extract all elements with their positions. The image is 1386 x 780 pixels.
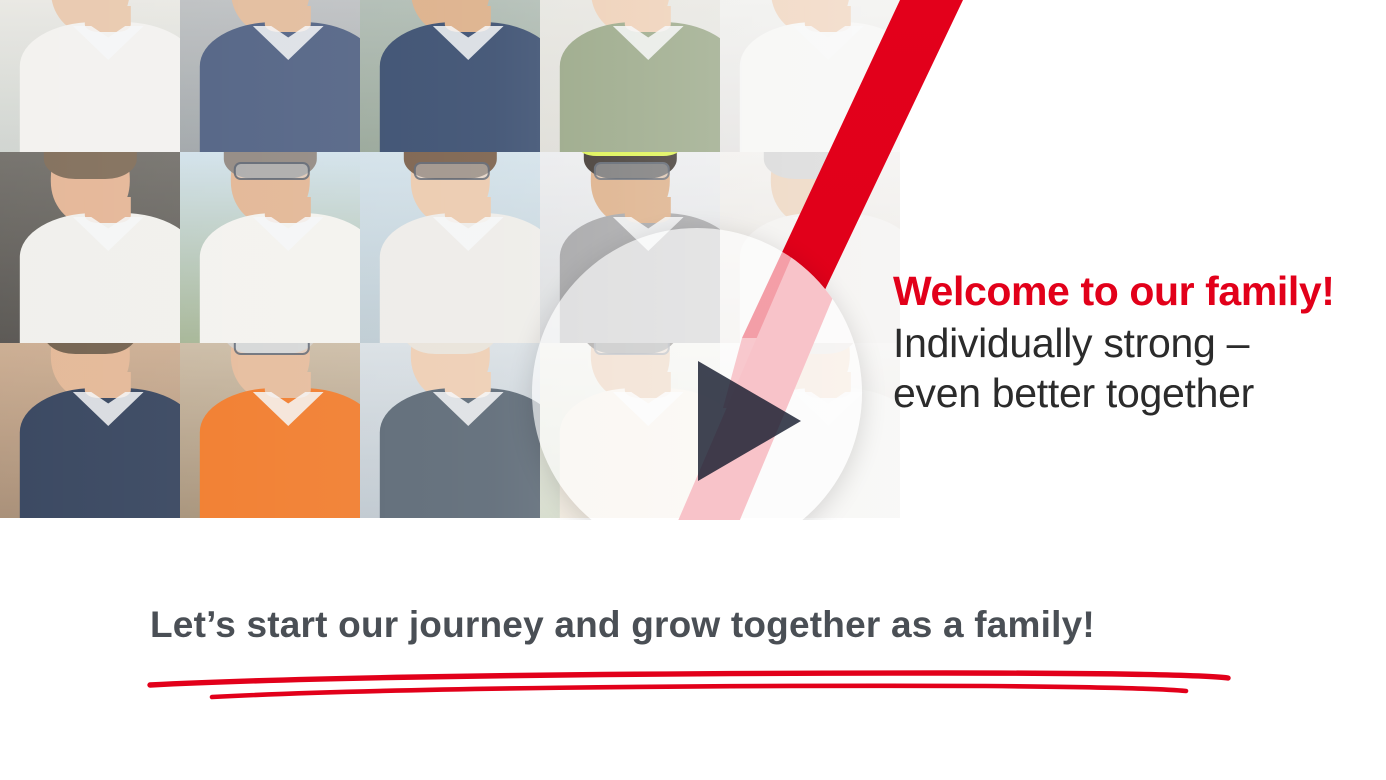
person-torso bbox=[200, 388, 360, 518]
photo-cell bbox=[540, 0, 720, 152]
person-r2c2 bbox=[200, 152, 340, 343]
person-torso bbox=[560, 22, 720, 152]
play-triangle-icon bbox=[698, 361, 801, 481]
play-video-button[interactable] bbox=[532, 228, 862, 520]
person-r1c2 bbox=[200, 0, 340, 152]
person-safety-glasses bbox=[414, 162, 490, 180]
photo-cell bbox=[180, 0, 360, 152]
person-r2c3 bbox=[380, 152, 520, 343]
caption-block: Let’s start our journey and grow togethe… bbox=[150, 604, 1250, 646]
person-r3c1 bbox=[20, 343, 160, 518]
person-safety-glasses bbox=[234, 162, 310, 180]
person-hair bbox=[404, 343, 497, 354]
person-r3c3 bbox=[380, 343, 520, 518]
person-torso bbox=[380, 213, 540, 343]
slide-canvas: Welcome to our family! Individually stro… bbox=[0, 0, 1386, 780]
person-hair bbox=[44, 343, 137, 354]
person-hair bbox=[44, 152, 137, 179]
person-safety-glasses bbox=[234, 343, 310, 355]
person-torso bbox=[20, 22, 180, 152]
person-torso bbox=[200, 213, 360, 343]
person-hard-hat bbox=[578, 152, 682, 156]
caption-text: Let’s start our journey and grow togethe… bbox=[150, 604, 1250, 646]
person-torso bbox=[740, 22, 900, 152]
person-torso bbox=[20, 388, 180, 518]
person-r2c1 bbox=[20, 152, 160, 343]
person-safety-glasses bbox=[594, 162, 670, 180]
photo-cell bbox=[360, 0, 540, 152]
person-r1c3 bbox=[380, 0, 520, 152]
page-title: Welcome to our family! bbox=[893, 268, 1363, 316]
person-torso bbox=[20, 213, 180, 343]
photo-cell bbox=[0, 343, 180, 518]
person-torso bbox=[200, 22, 360, 152]
headline-block: Welcome to our family! Individually stro… bbox=[893, 268, 1363, 418]
photo-cell bbox=[360, 343, 540, 518]
person-torso bbox=[380, 22, 540, 152]
person-r3c2 bbox=[200, 343, 340, 518]
photo-cell bbox=[360, 152, 540, 343]
page-subtitle-line-1: Individually strong – bbox=[893, 318, 1363, 368]
hand-drawn-double-underline-icon bbox=[146, 664, 1256, 704]
person-r1c5 bbox=[740, 0, 880, 152]
person-hair bbox=[764, 152, 857, 179]
person-r1c1 bbox=[20, 0, 160, 152]
photo-cell bbox=[0, 0, 180, 152]
photo-cell bbox=[0, 152, 180, 343]
page-subtitle-line-2: even better together bbox=[893, 368, 1363, 418]
photo-cell bbox=[720, 0, 900, 152]
person-r1c4 bbox=[560, 0, 700, 152]
pink-stripe-inside-play-circle bbox=[532, 228, 862, 520]
page-subtitle: Individually strong – even better togeth… bbox=[893, 318, 1363, 418]
photo-cell bbox=[180, 152, 360, 343]
hero-media-area: Welcome to our family! Individually stro… bbox=[0, 0, 1386, 520]
photo-cell bbox=[180, 343, 360, 518]
person-torso bbox=[380, 388, 540, 518]
